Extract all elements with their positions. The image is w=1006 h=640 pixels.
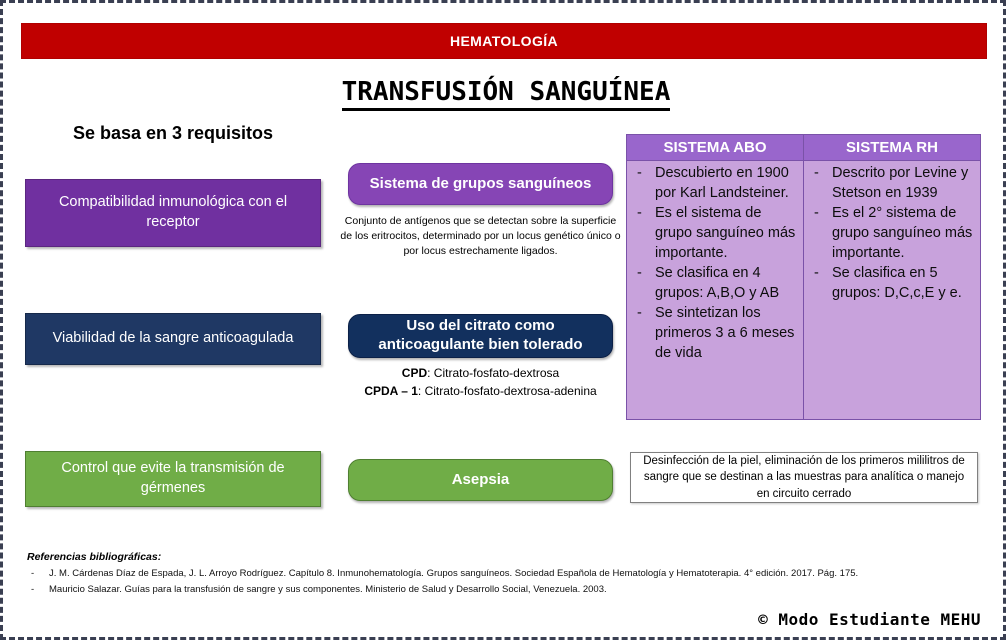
author-signature: © Modo Estudiante MEHU xyxy=(758,610,981,629)
pill-blood-group-system: Sistema de grupos sanguíneos xyxy=(348,163,613,205)
cpda1-key: CPDA – 1 xyxy=(364,384,418,398)
requirement-label: Compatibilidad inmunológica con el recep… xyxy=(42,193,304,232)
caption-citrate-line-2: CPDA – 1: Citrato-fosfato-dextrosa-adeni… xyxy=(340,382,621,400)
list-item: Se clasifica en 5 grupos: D,C,c,E y e. xyxy=(810,263,974,303)
caption-citrate-line-1: CPD: Citrato-fosfato-dextrosa xyxy=(340,364,621,382)
page-title: TRANSFUSIÓN SANGUÍNEA xyxy=(3,79,1006,111)
cpd-value: : Citrato-fosfato-dextrosa xyxy=(427,366,559,380)
banner-label: HEMATOLOGÍA xyxy=(450,33,558,49)
list-item: Es el sistema de grupo sanguíneo más imp… xyxy=(633,203,797,263)
caption-citrate: CPD: Citrato-fosfato-dextrosa CPDA – 1: … xyxy=(340,364,621,400)
pill-label: Asepsia xyxy=(452,471,510,490)
list-item: J. M. Cárdenas Díaz de Espada, J. L. Arr… xyxy=(27,566,987,582)
requirement-box-viability: Viabilidad de la sangre anticoagulada xyxy=(25,313,321,365)
table-cell-rh: Descrito por Levine y Stetson en 1939 Es… xyxy=(804,161,981,420)
requirement-label: Viabilidad de la sangre anticoagulada xyxy=(53,329,294,349)
references-section: Referencias bibliográficas: J. M. Cárden… xyxy=(27,551,987,598)
asepsis-description-text: Desinfección de la piel, eliminación de … xyxy=(639,453,969,502)
cpda1-value: : Citrato-fosfato-dextrosa-adenina xyxy=(418,384,597,398)
list-item: Se sintetizan los primeros 3 a 6 meses d… xyxy=(633,303,797,363)
cpd-key: CPD xyxy=(402,366,427,380)
table-column-header-rh: SISTEMA RH xyxy=(804,135,981,161)
list-item: Descrito por Levine y Stetson en 1939 xyxy=(810,163,974,203)
caption-blood-group-system: Conjunto de antígenos que se detectan so… xyxy=(340,214,621,260)
pill-asepsis: Asepsia xyxy=(348,459,613,501)
table-cell-abo: Descubierto en 1900 por Karl Landsteiner… xyxy=(627,161,804,420)
infographic-page: HEMATOLOGÍA TRANSFUSIÓN SANGUÍNEA Se bas… xyxy=(0,0,1006,640)
references-title: Referencias bibliográficas: xyxy=(27,551,987,563)
rh-item-list: Descrito por Levine y Stetson en 1939 Es… xyxy=(810,163,974,303)
page-title-text: TRANSFUSIÓN SANGUÍNEA xyxy=(342,79,671,111)
requirement-box-compatibility: Compatibilidad inmunológica con el recep… xyxy=(25,179,321,247)
blood-system-table: SISTEMA ABO SISTEMA RH Descubierto en 19… xyxy=(626,134,981,420)
pill-citrate-anticoagulant: Uso del citrato como anticoagulante bien… xyxy=(348,314,613,358)
list-item: Mauricio Salazar. Guías para la transfus… xyxy=(27,582,987,598)
requirement-box-control: Control que evite la transmisión de gérm… xyxy=(25,451,321,507)
requirement-label: Control que evite la transmisión de gérm… xyxy=(42,459,304,498)
pill-label: Uso del citrato como anticoagulante bien… xyxy=(359,317,602,355)
list-item: Es el 2° sistema de grupo sanguíneo más … xyxy=(810,203,974,263)
abo-item-list: Descubierto en 1900 por Karl Landsteiner… xyxy=(633,163,797,363)
pill-label: Sistema de grupos sanguíneos xyxy=(370,175,592,194)
references-list: J. M. Cárdenas Díaz de Espada, J. L. Arr… xyxy=(27,566,987,598)
list-item: Descubierto en 1900 por Karl Landsteiner… xyxy=(633,163,797,203)
table-row: Descubierto en 1900 por Karl Landsteiner… xyxy=(627,161,981,420)
left-column-subtitle: Se basa en 3 requisitos xyxy=(25,123,321,144)
table-header-row: SISTEMA ABO SISTEMA RH xyxy=(627,135,981,161)
asepsis-description-box: Desinfección de la piel, eliminación de … xyxy=(630,452,978,503)
table-column-header-abo: SISTEMA ABO xyxy=(627,135,804,161)
hematology-banner: HEMATOLOGÍA xyxy=(21,23,987,59)
list-item: Se clasifica en 4 grupos: A,B,O y AB xyxy=(633,263,797,303)
